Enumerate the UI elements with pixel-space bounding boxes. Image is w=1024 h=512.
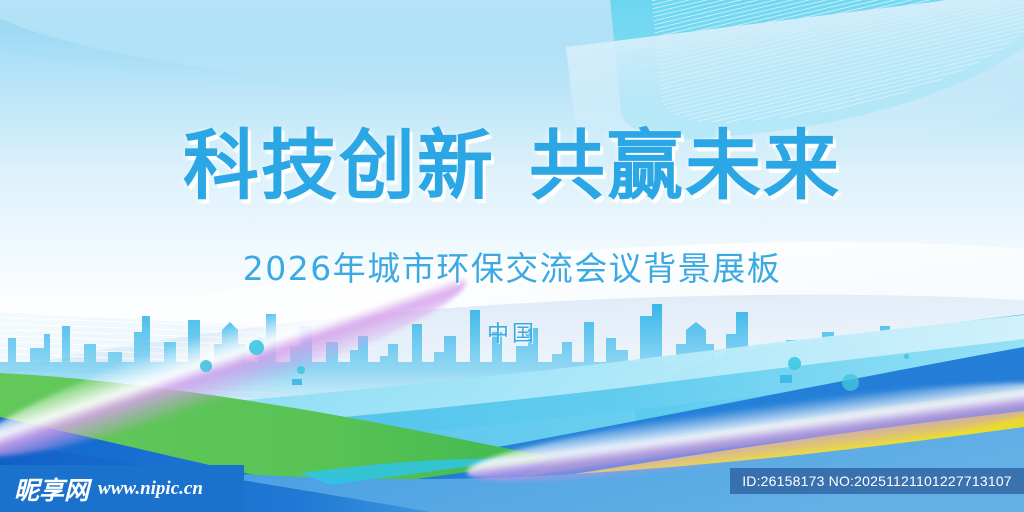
- decor-dot-2: [200, 360, 212, 372]
- page-title: 科技创新共赢未来: [0, 104, 1024, 214]
- page-subtitle: 2026年城市环保交流会议背景展板: [0, 242, 1024, 290]
- watermark-url: www.nipic.cn: [98, 478, 203, 500]
- image-id-text: ID:26158173 NO:20251121101227713107: [742, 473, 1012, 489]
- poster-canvas: 科技创新共赢未来 2026年城市环保交流会议背景展板 中国 昵享网 www.ni…: [0, 0, 1024, 512]
- decor-square-1: [292, 379, 302, 385]
- headline-part-1: 科技创新: [183, 121, 495, 210]
- image-id-strip: ID:26158173 NO:20251121101227713107: [730, 468, 1024, 494]
- decor-square-2: [780, 375, 792, 383]
- page-tertiary-line: 中国: [0, 316, 1024, 348]
- decor-dot-6: [904, 354, 909, 359]
- decor-dot-4: [788, 357, 801, 370]
- decor-dot-3: [297, 366, 305, 374]
- decor-dot-5: [842, 374, 859, 391]
- poster-text-block: 科技创新共赢未来 2026年城市环保交流会议背景展板 中国: [0, 0, 1024, 348]
- watermark-logo: 昵享网: [14, 471, 89, 507]
- watermark-bar: 昵享网 www.nipic.cn: [0, 465, 244, 512]
- headline-part-2: 共赢未来: [529, 121, 841, 210]
